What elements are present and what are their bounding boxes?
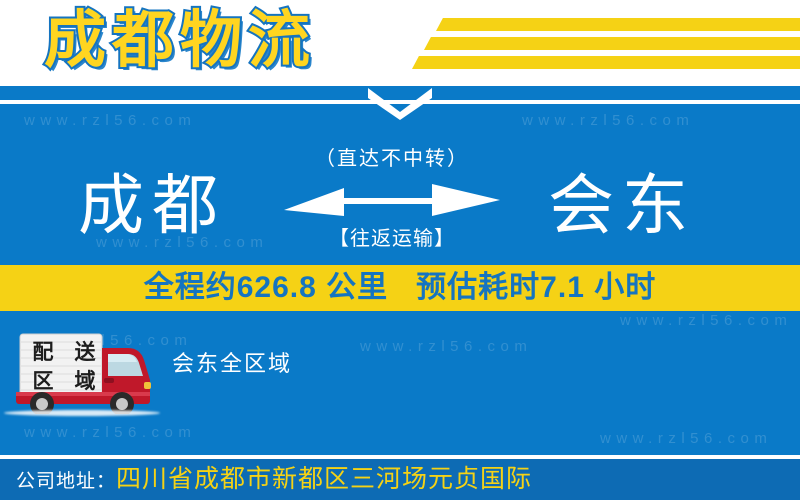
header-stripe-3 xyxy=(412,56,800,69)
destination-city: 会东 xyxy=(548,150,696,260)
address-text: 公司地址：四川省成都市新都区三河场元贞国际 xyxy=(16,459,532,500)
truck-reflection xyxy=(4,410,160,416)
route-middle: （直达不中转） 【往返运输】 xyxy=(282,150,502,260)
header-stripe-2 xyxy=(424,37,800,50)
via-note: （直达不中转） xyxy=(282,142,502,171)
distance-value: 626.8 xyxy=(237,271,317,304)
bidirectional-arrow-icon xyxy=(282,176,502,224)
logistics-poster: 成都物流 成都物流 www.rzl56.com www.rzl56.com ww… xyxy=(0,0,800,500)
distance-label: 全程约 xyxy=(144,271,237,304)
address-value: 四川省成都市新都区三河场元贞国际 xyxy=(116,465,532,493)
origin-city: 成都 xyxy=(78,150,226,260)
distance-text: 全程约626.8 公里预估耗时7.1 小时 xyxy=(0,265,800,311)
header-stripe-1 xyxy=(436,18,800,31)
delivery-truck-icon xyxy=(8,330,156,414)
chevron-down-icon xyxy=(364,86,436,120)
distance-unit: 公里 xyxy=(326,271,388,304)
page-title: 成都物流 xyxy=(44,0,316,84)
trip-note: 【往返运输】 xyxy=(282,222,502,251)
duration-label: 预估耗时 xyxy=(416,271,540,304)
distance-band: 全程约626.8 公里预估耗时7.1 小时 xyxy=(0,265,800,311)
address-label: 公司地址： xyxy=(16,471,116,492)
address-band: 公司地址：四川省成都市新都区三河场元贞国际 xyxy=(0,459,800,500)
duration-unit: 小时 xyxy=(594,271,656,304)
delivery-row: 配 送 区 域 会东全区域 xyxy=(0,330,800,420)
duration-value: 7.1 xyxy=(540,271,585,304)
delivery-area-text: 会东全区域 xyxy=(172,346,292,378)
poster-header: 成都物流 成都物流 xyxy=(0,0,800,86)
route-row: 成都 （直达不中转） 【往返运输】 会东 xyxy=(0,150,800,260)
